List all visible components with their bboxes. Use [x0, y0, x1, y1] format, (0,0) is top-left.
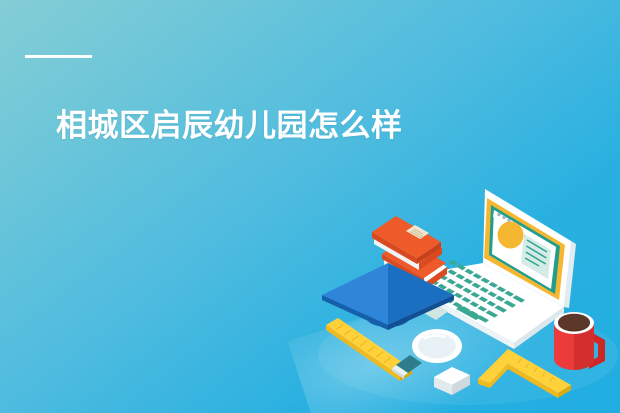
- study-desk-illustration: [318, 183, 620, 413]
- coffee-mug-graphic: [554, 312, 605, 370]
- accent-rule: [25, 55, 92, 58]
- page-title: 相城区启辰幼儿园怎么样: [56, 106, 403, 146]
- promo-banner: 相城区启辰幼儿园怎么样: [0, 0, 620, 413]
